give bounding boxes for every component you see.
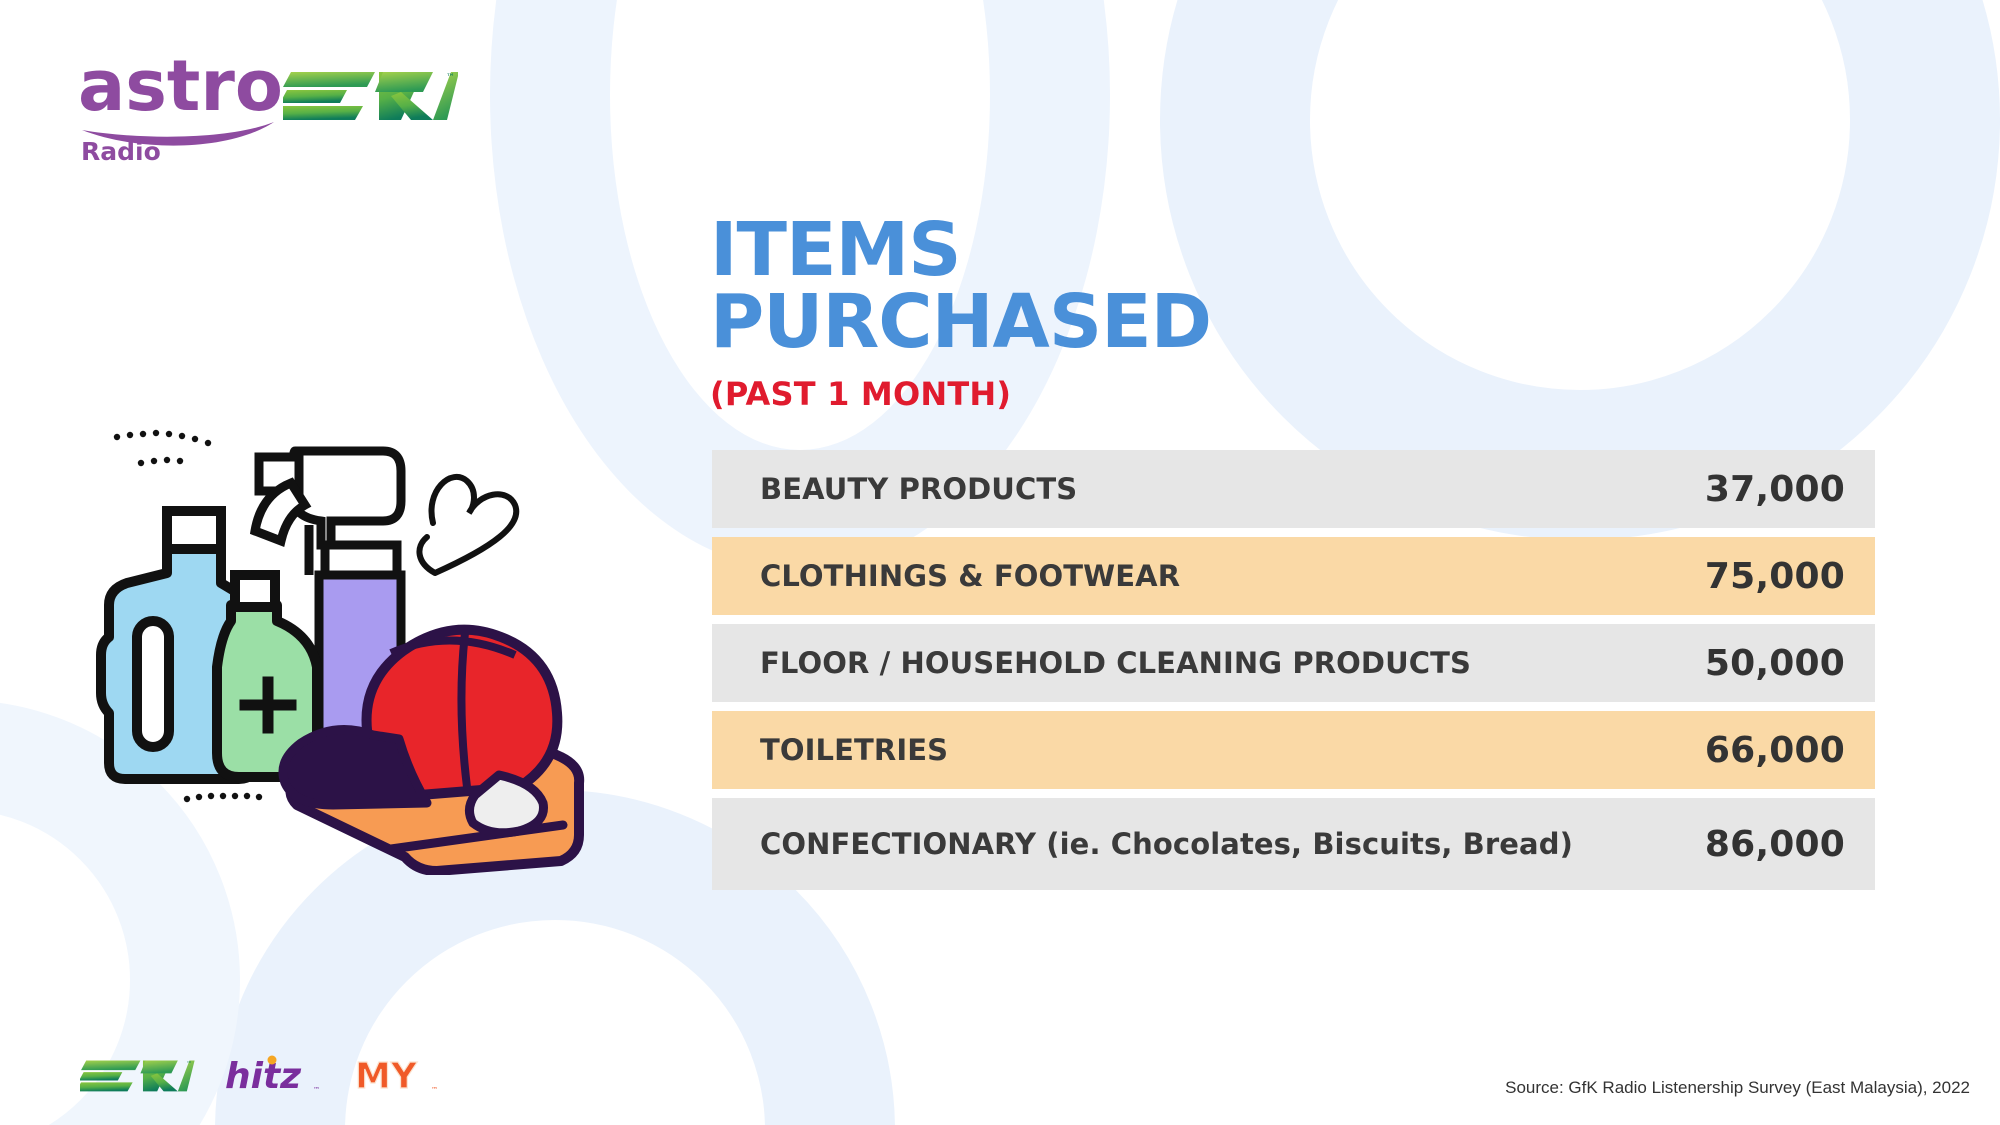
table-row-value: 86,000 — [1705, 824, 1845, 865]
page-title-line-2: PURCHASED — [710, 279, 1211, 365]
items-purchased-table: BEAUTY PRODUCTS 37,000 CLOTHINGS & FOOTW… — [712, 450, 1875, 899]
heart-doodle-icon — [419, 477, 516, 573]
hitz-logo-footer: hitz ™ — [225, 1052, 325, 1096]
motion-dots-icon — [114, 430, 211, 466]
table-row-value: 37,000 — [1705, 469, 1845, 510]
table-row[interactable]: CONFECTIONARY (ie. Chocolates, Biscuits,… — [712, 798, 1875, 890]
svg-text:™: ™ — [431, 1086, 438, 1094]
era-tm-icon: ™ — [446, 73, 455, 83]
hitz-wordmark: hitz — [225, 1056, 302, 1096]
era-logo-header: ™ — [283, 62, 458, 124]
astro-radio-subtext: Radio — [81, 137, 161, 163]
page-title: ITEMS PURCHASED — [710, 215, 1890, 359]
table-row-label: TOILETRIES — [760, 733, 948, 767]
slide-canvas: astro Radio ™ — [0, 0, 2000, 1125]
hitz-dot-icon — [268, 1056, 277, 1065]
page-subtitle: (PAST 1 MONTH) — [710, 375, 1890, 413]
household-and-apparel-items-illustration — [95, 405, 615, 875]
table-row-value: 66,000 — [1705, 730, 1845, 771]
my-logo-footer: MY ™ — [355, 1052, 443, 1096]
astro-wordmark: astro — [78, 48, 283, 127]
svg-text:™: ™ — [313, 1086, 320, 1094]
table-row-label: CONFECTIONARY (ie. Chocolates, Biscuits,… — [760, 827, 1573, 861]
title-block: ITEMS PURCHASED (PAST 1 MONTH) — [710, 215, 1890, 413]
table-row-value: 50,000 — [1705, 643, 1845, 684]
table-row-label: BEAUTY PRODUCTS — [760, 472, 1077, 506]
table-row-label: FLOOR / HOUSEHOLD CLEANING PRODUCTS — [760, 646, 1471, 680]
table-row-value: 75,000 — [1705, 556, 1845, 597]
table-row[interactable]: TOILETRIES 66,000 — [712, 711, 1875, 789]
footer-logo-strip: ™ hitz ™ MY ™ — [80, 1048, 443, 1100]
era-logo-footer: ™ — [80, 1054, 195, 1094]
table-row-label: CLOTHINGS & FOOTWEAR — [760, 559, 1180, 593]
svg-text:™: ™ — [186, 1061, 192, 1068]
table-row[interactable]: CLOTHINGS & FOOTWEAR 75,000 — [712, 537, 1875, 615]
table-row[interactable]: BEAUTY PRODUCTS 37,000 — [712, 450, 1875, 528]
my-wordmark: MY — [355, 1056, 418, 1096]
source-note: Source: GfK Radio Listenership Survey (E… — [1505, 1078, 1970, 1098]
table-row[interactable]: FLOOR / HOUSEHOLD CLEANING PRODUCTS 50,0… — [712, 624, 1875, 702]
